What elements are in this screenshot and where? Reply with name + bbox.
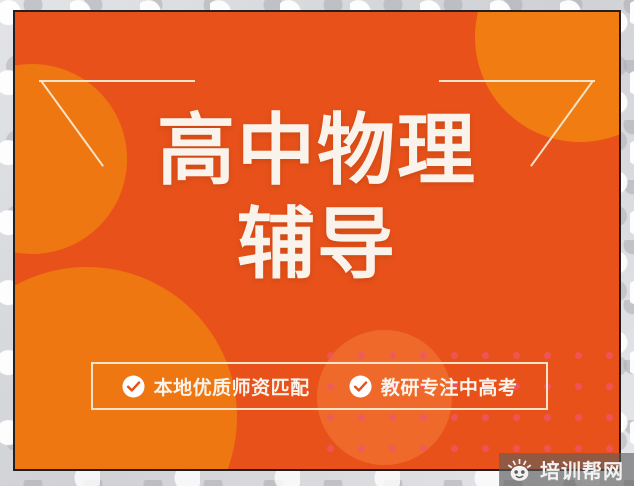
site-watermark: 培训帮网	[499, 453, 634, 486]
headline-line-1: 高中物理	[15, 112, 619, 190]
poster-screenshot: 高中物理 辅导 本地优质师资匹配 教研专注中高考	[0, 0, 634, 486]
poster-card: 高中物理 辅导 本地优质师资匹配 教研专注中高考	[13, 10, 621, 471]
feature-label-1: 本地优质师资匹配	[154, 373, 310, 400]
headline-line-2: 辅导	[15, 206, 619, 284]
ornament-line-top-right-horizontal	[439, 80, 595, 82]
poster-headline: 高中物理 辅导	[15, 112, 619, 284]
watermark-text: 培训帮网	[540, 455, 624, 484]
feature-item-2: 教研专注中高考	[349, 373, 518, 400]
feature-label-2: 教研专注中高考	[381, 373, 518, 400]
feature-badge-bar: 本地优质师资匹配 教研专注中高考	[91, 362, 548, 410]
check-circle-icon	[122, 375, 145, 398]
ornament-line-top-left-horizontal	[39, 80, 195, 82]
feature-item-1: 本地优质师资匹配	[122, 373, 310, 400]
sun-face-icon	[507, 459, 532, 481]
check-circle-icon	[349, 375, 372, 398]
